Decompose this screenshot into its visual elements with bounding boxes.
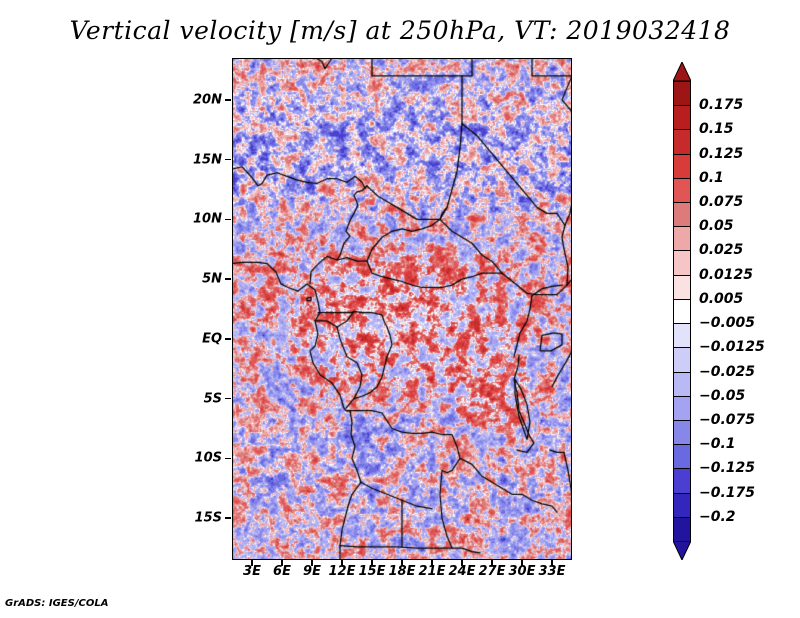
colorbar-band [673, 250, 691, 275]
colorbar-band [673, 396, 691, 421]
y-tick-label: 20N [193, 92, 222, 107]
y-tick [225, 517, 231, 519]
colorbar-band [673, 372, 691, 397]
colorbar-min-arrow [673, 541, 691, 560]
colorbar-tick-label: 0.005 [699, 291, 743, 307]
x-tick-label: 33E [539, 564, 566, 579]
colorbar-band [673, 178, 691, 203]
colorbar-tick-label: 0.1 [699, 170, 724, 186]
map-plot-area[interactable]: 20N15N10N5NEQ5S10S15S 3E6E9E12E15E18E21E… [232, 58, 572, 560]
y-tick-label: 5N [202, 272, 222, 287]
y-tick [225, 159, 231, 161]
x-tick-label: 18E [389, 564, 416, 579]
colorbar-band [673, 468, 691, 493]
y-tick [225, 458, 231, 460]
y-tick [225, 219, 231, 221]
colorbar[interactable]: 0.1750.150.1250.10.0750.050.0250.01250.0… [673, 62, 691, 560]
colorbar-tick-label: −0.125 [699, 460, 755, 476]
y-tick-label: 15S [195, 511, 222, 526]
colorbar-band [673, 226, 691, 251]
y-tick-label: 10N [193, 212, 222, 227]
colorbar-max-arrow [673, 62, 691, 81]
colorbar-tick-label: 0.025 [699, 242, 743, 258]
colorbar-tick-label: −0.175 [699, 485, 755, 501]
colorbar-band [673, 347, 691, 372]
colorbar-tick-label: −0.025 [699, 364, 755, 380]
colorbar-band [673, 129, 691, 154]
x-tick-label: 24E [449, 564, 476, 579]
y-tick [225, 398, 231, 400]
colorbar-tick-label: −0.1 [699, 436, 736, 452]
colorbar-band [673, 202, 691, 227]
x-tick-label: 12E [329, 564, 356, 579]
colorbar-band [673, 81, 691, 106]
colorbar-tick-label: −0.05 [699, 388, 745, 404]
y-tick-label: 5S [204, 391, 222, 406]
colorbar-band [673, 517, 691, 542]
x-tick-label: 3E [243, 564, 261, 579]
colorbar-band [673, 444, 691, 469]
y-tick-label: EQ [202, 331, 222, 346]
colorbar-tick-label: 0.175 [699, 97, 743, 113]
attribution-footer: GrADS: IGES/COLA [5, 598, 108, 609]
colorbar-band [673, 493, 691, 518]
x-tick-label: 21E [419, 564, 446, 579]
colorbar-tick-label: −0.2 [699, 509, 736, 525]
colorbar-tick-label: −0.005 [699, 315, 755, 331]
colorbar-tick-label: 0.05 [699, 218, 734, 234]
colorbar-band [673, 275, 691, 300]
x-tick-label: 27E [479, 564, 506, 579]
colorbar-tick-label: −0.075 [699, 412, 755, 428]
x-tick-label: 9E [303, 564, 321, 579]
colorbar-band [673, 323, 691, 348]
x-tick-label: 6E [273, 564, 291, 579]
colorbar-band [673, 105, 691, 130]
colorbar-tick-label: −0.0125 [699, 339, 765, 355]
colorbar-band [673, 154, 691, 179]
page-title: Vertical velocity [m/s] at 250hPa, VT: 2… [0, 16, 800, 45]
colorbar-tick-label: 0.0125 [699, 267, 753, 283]
colorbar-band [673, 420, 691, 445]
x-tick-label: 30E [509, 564, 536, 579]
y-tick [225, 278, 231, 280]
vertical-velocity-heatmap [232, 58, 572, 560]
x-tick-label: 15E [359, 564, 386, 579]
colorbar-tick-label: 0.125 [699, 146, 743, 162]
y-tick-label: 10S [195, 451, 222, 466]
colorbar-tick-label: 0.075 [699, 194, 743, 210]
y-tick [225, 99, 231, 101]
colorbar-tick-label: 0.15 [699, 121, 734, 137]
y-tick-label: 15N [193, 152, 222, 167]
colorbar-band [673, 299, 691, 324]
y-tick [225, 338, 231, 340]
